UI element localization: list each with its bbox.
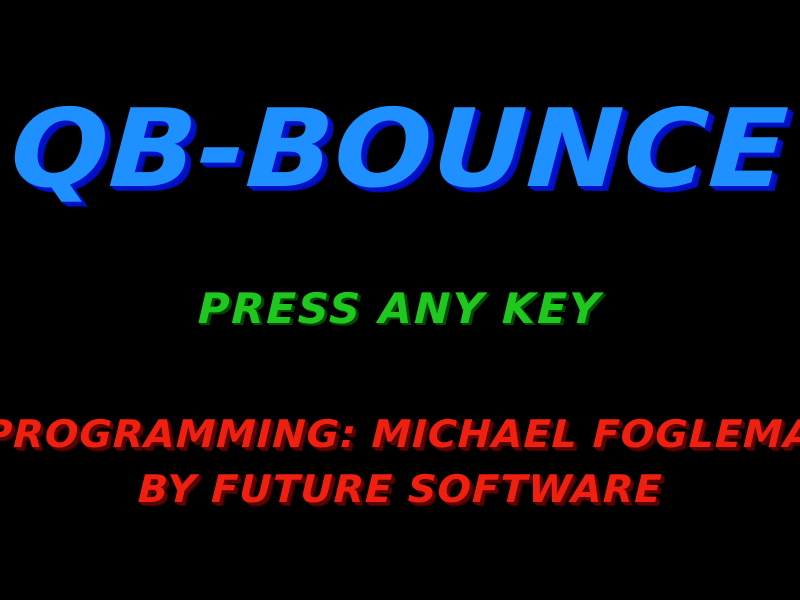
press-any-key-prompt[interactable]: PRESS ANY KEY <box>197 288 602 330</box>
press-any-key-area[interactable]: PRESS ANY KEY <box>0 288 800 338</box>
credits-programming: PROGRAMMING: MICHAEL FOGLEMAN <box>0 415 800 453</box>
game-title-screen[interactable]: QB-BOUNCE PRESS ANY KEY PROGRAMMING: MIC… <box>0 0 800 600</box>
credits-line-2: BY FUTURE SOFTWARE <box>0 470 800 516</box>
game-title: QB-BOUNCE <box>8 96 791 204</box>
credits-publisher: BY FUTURE SOFTWARE <box>137 470 663 508</box>
credits-line-1: PROGRAMMING: MICHAEL FOGLEMAN <box>0 415 800 461</box>
title-area: QB-BOUNCE <box>0 96 800 226</box>
